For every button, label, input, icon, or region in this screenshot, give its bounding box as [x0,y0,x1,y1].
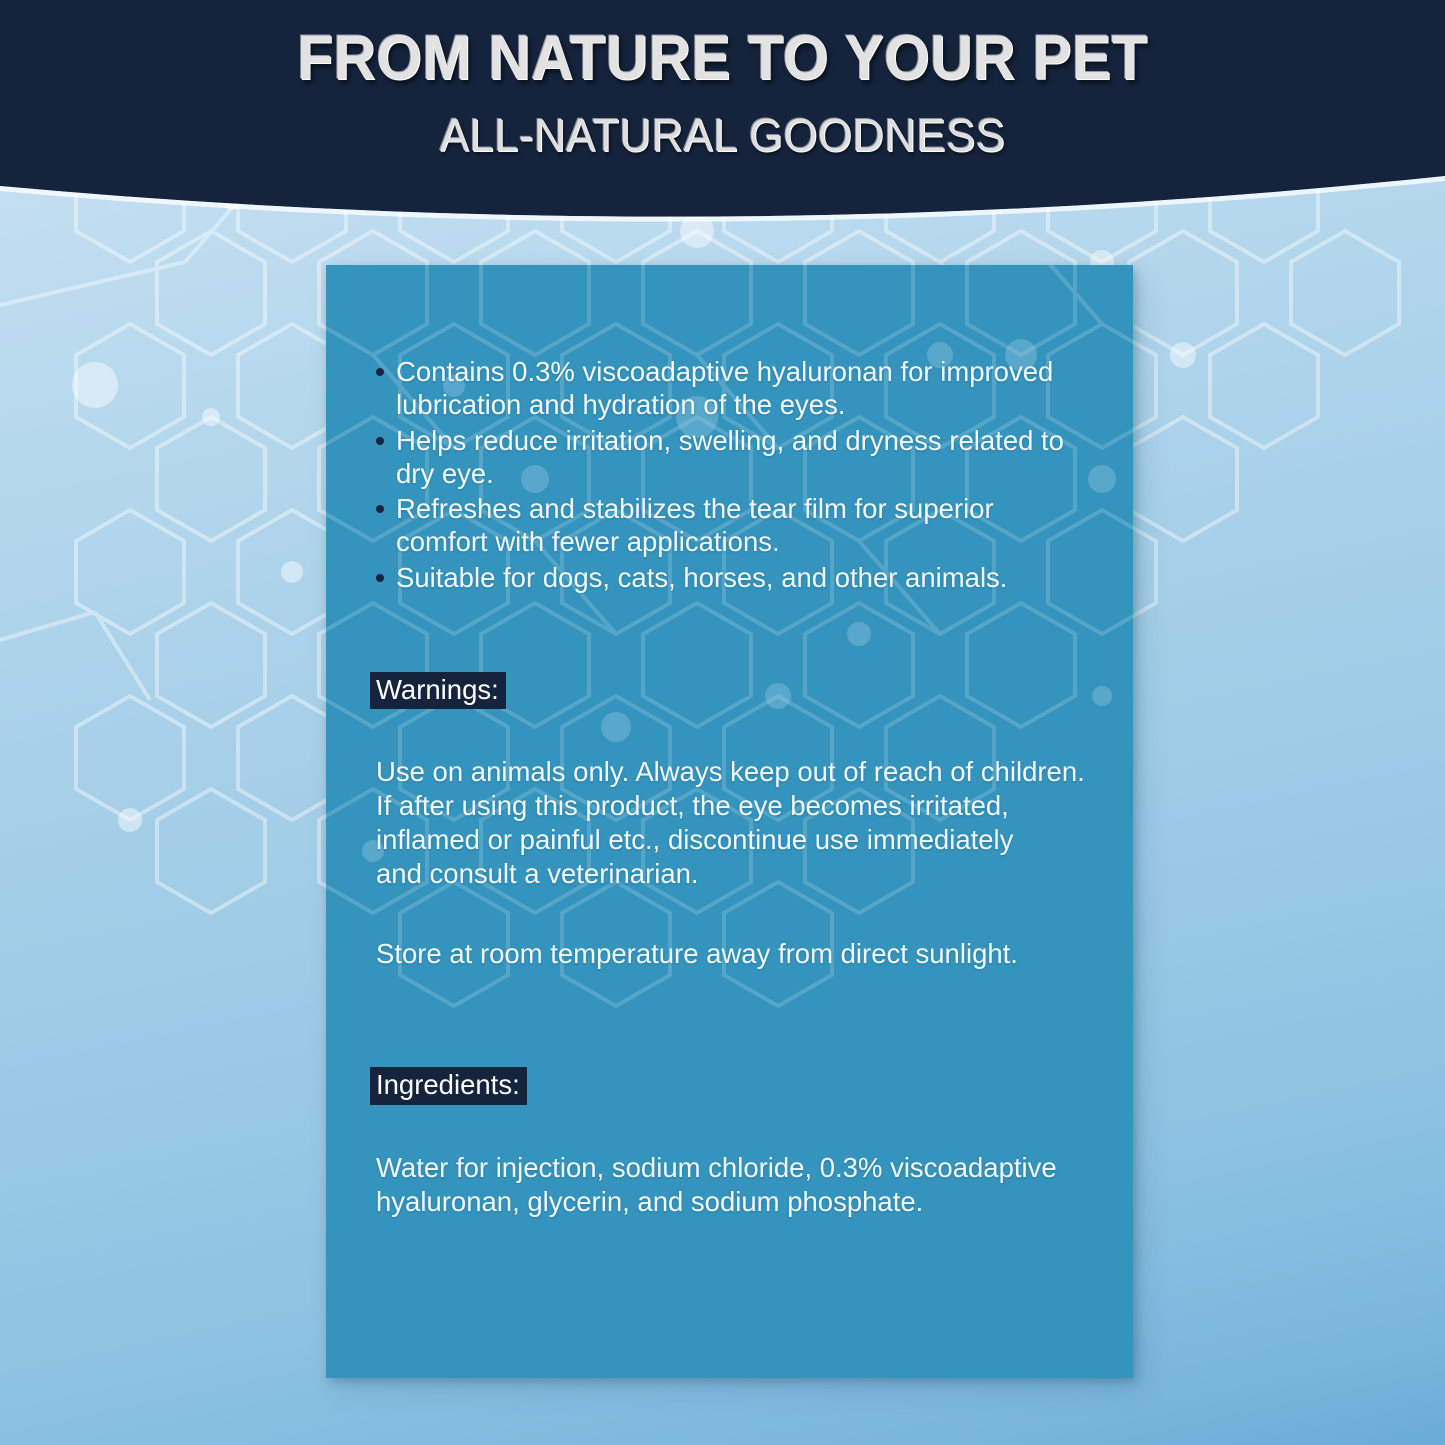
spacer [364,709,1089,755]
ingredients-heading-wrap: Ingredients: [370,1067,1089,1105]
page-title: FROM NATURE TO YOUR PET [51,22,1395,94]
warnings-heading: Warnings: [370,672,506,710]
list-item: Refreshes and stabilizes the tear film f… [364,492,1089,559]
spacer [364,891,1089,937]
card-content: Contains 0.3% viscoadaptive hyaluronan f… [326,265,1133,1219]
spacer [364,1037,1089,1067]
ingredients-body: Water for injection, sodium chloride, 0.… [376,1151,1089,1219]
spacer [364,971,1089,1037]
list-item: Helps reduce irritation, swelling, and d… [364,424,1089,491]
header-text-block: FROM NATURE TO YOUR PET ALL-NATURAL GOOD… [0,0,1445,162]
page-subtitle: ALL-NATURAL GOODNESS [36,108,1409,162]
list-item: Suitable for dogs, cats, horses, and oth… [364,561,1089,594]
infographic-canvas: FROM NATURE TO YOUR PET ALL-NATURAL GOOD… [0,0,1445,1445]
page-header: FROM NATURE TO YOUR PET ALL-NATURAL GOOD… [0,0,1445,250]
list-item: Contains 0.3% viscoadaptive hyaluronan f… [364,355,1089,422]
benefits-list: Contains 0.3% viscoadaptive hyaluronan f… [364,355,1089,594]
product-info-card: Contains 0.3% viscoadaptive hyaluronan f… [326,265,1133,1378]
storage-instructions: Store at room temperature away from dire… [376,937,1089,971]
spacer [364,596,1089,672]
spacer [364,1105,1089,1151]
ingredients-heading: Ingredients: [370,1067,527,1105]
warnings-heading-wrap: Warnings: [370,672,1089,710]
warnings-body: Use on animals only. Always keep out of … [376,755,1089,891]
